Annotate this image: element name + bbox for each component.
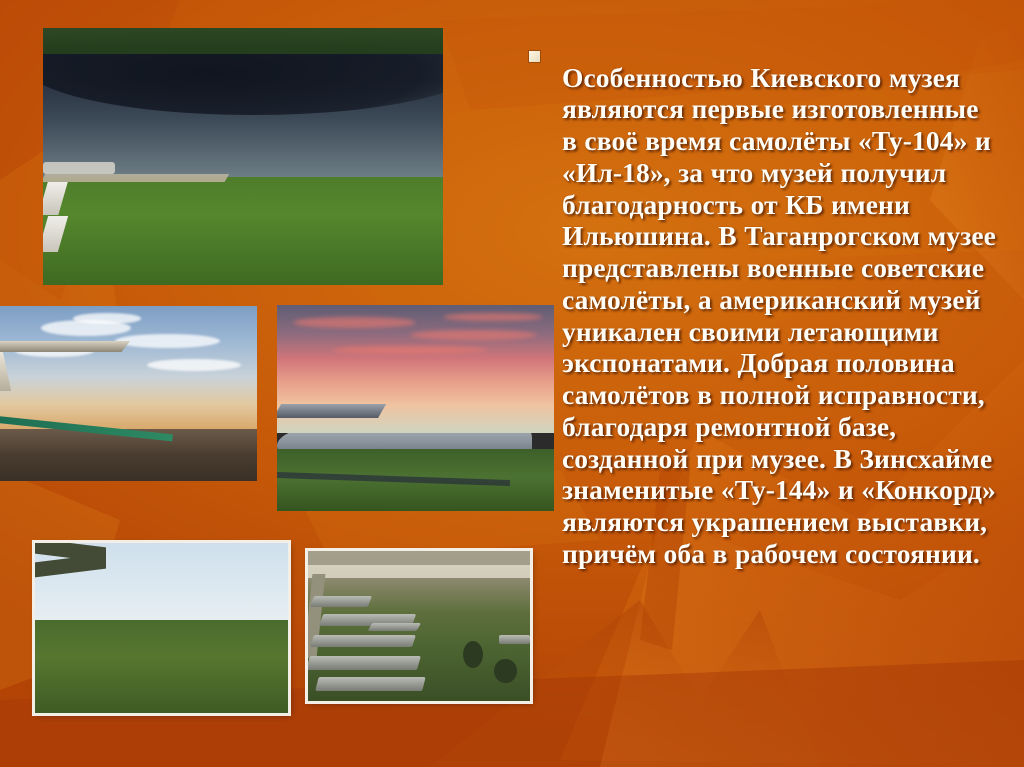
presentation-slide: Особенностью Киевского музея являются пе…: [0, 0, 1024, 767]
bullet-paragraph: Особенностью Киевского музея являются пе…: [562, 62, 999, 570]
photo-ilyushin-airliner: [0, 306, 257, 481]
photo-aviation-park-aerial: [308, 551, 530, 701]
bullet-item: Особенностью Киевского музея являются пе…: [529, 34, 999, 597]
photo-mig-fighter-jet: [43, 28, 443, 285]
photo-tu104-monument: [277, 305, 554, 511]
square-bullet-icon: [529, 51, 540, 62]
photo-fighter-front-view: [35, 543, 288, 713]
slide-body-text: Особенностью Киевского музея являются пе…: [529, 34, 999, 597]
